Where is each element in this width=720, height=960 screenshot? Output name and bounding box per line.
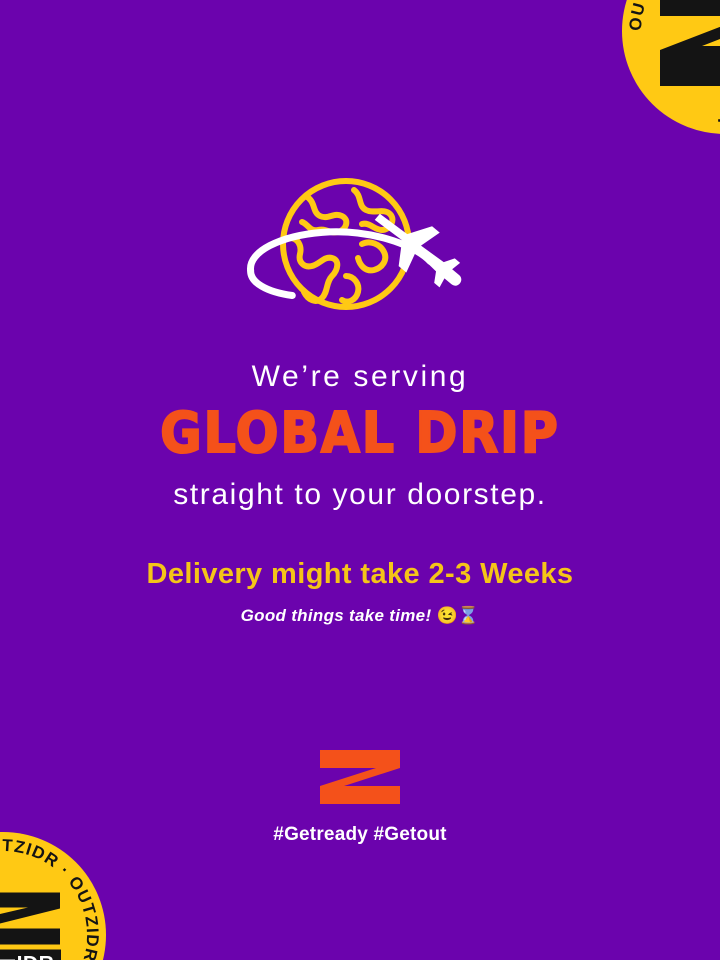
poster-canvas: OUTZIDR · OUTZIDR · OUTZIDR · OUTZIDR · … bbox=[0, 0, 720, 960]
subhead-text: straight to your doorstep. bbox=[0, 478, 720, 511]
hashtags-text: #Getready #Getout bbox=[273, 824, 446, 846]
globe-airplane-icon bbox=[242, 172, 478, 332]
brand-z-icon bbox=[0, 891, 64, 947]
badge-wordmark-part-2: IDR bbox=[17, 954, 55, 960]
brand-badge-top-right: OUTZIDR · OUTZIDR · OUTZIDR · OUTZIDR · bbox=[622, 0, 720, 134]
hero-illustration bbox=[0, 172, 720, 332]
badge-wordmark: OUT IDR bbox=[0, 950, 61, 960]
delivery-note-text: Delivery might take 2-3 Weeks bbox=[0, 559, 720, 591]
badge-core-bottom-left: OUT IDR bbox=[0, 891, 67, 960]
badge-core-top-right bbox=[661, 0, 720, 90]
reassurance-line: Good things take time! 😉⌛ bbox=[0, 607, 720, 626]
reassurance-text: Good things take time! bbox=[241, 606, 432, 625]
copy-block: We’re serving GLOBAL DRIP straight to yo… bbox=[0, 360, 720, 625]
eyebrow-text: We’re serving bbox=[0, 360, 720, 393]
footer-brand-z-icon bbox=[318, 748, 402, 806]
brand-badge-bottom-left: OUTZIDR · OUTZIDR · OUTZIDR · OUTZIDR · … bbox=[0, 832, 106, 960]
reassurance-emoji: 😉⌛ bbox=[436, 606, 479, 625]
footer-block: #Getready #Getout bbox=[0, 748, 720, 846]
headline-text: GLOBAL DRIP bbox=[0, 405, 720, 464]
brand-z-icon bbox=[650, 0, 720, 90]
